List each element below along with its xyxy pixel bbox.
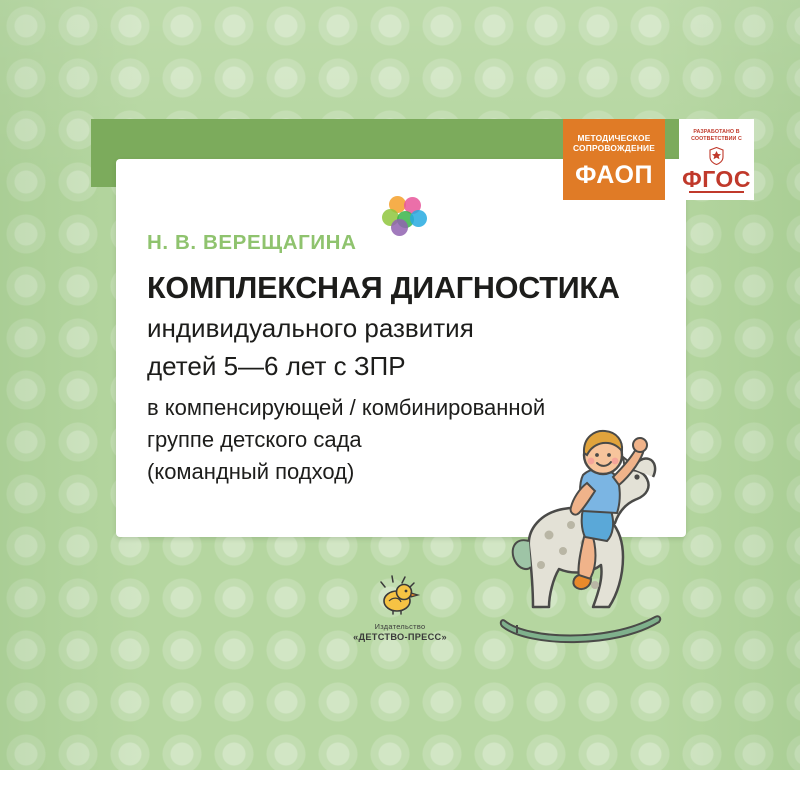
publisher-line-1: Издательство <box>344 622 456 631</box>
badge-fgos: РАЗРАБОТАНО В СООТВЕТСТВИИ С ФГОС <box>679 119 754 200</box>
badge-fgos-caption: РАЗРАБОТАНО В СООТВЕТСТВИИ С <box>679 129 754 143</box>
subtitle-line-3: в компенсирующей / комбинированной <box>147 395 545 421</box>
duck-icon <box>371 575 429 615</box>
badge-faop: МЕТОДИЧЕСКОЕ СОПРОВОЖДЕНИЕ ФАОП <box>563 119 665 200</box>
subtitle-line-1: индивидуального развития <box>147 313 474 344</box>
badge-fgos-label: ФГОС <box>679 166 754 193</box>
page-title: КОМПЛЕКСНАЯ ДИАГНОСТИКА <box>147 271 620 306</box>
flower-dots-icon <box>382 196 428 236</box>
boy-on-rocking-horse-illustration <box>487 425 682 655</box>
publisher-line-2: «ДЕТСТВО-ПРЕСС» <box>344 632 456 642</box>
subtitle-line-2: детей 5—6 лет с ЗПР <box>147 351 406 382</box>
subtitle-line-4: группе детского сада <box>147 427 362 453</box>
badge-fgos-rule <box>689 191 744 193</box>
badge-faop-label: ФАОП <box>563 161 665 190</box>
book-cover: Н. В. ВЕРЕЩАГИНА КОМПЛЕКСНАЯ ДИАГНОСТИКА… <box>0 0 800 800</box>
subtitle-line-5: (командный подход) <box>147 459 354 485</box>
cover-bottom-margin <box>0 770 800 800</box>
badge-faop-caption: МЕТОДИЧЕСКОЕ СОПРОВОЖДЕНИЕ <box>563 133 665 153</box>
emblem-icon <box>709 147 724 165</box>
author-name: Н. В. ВЕРЕЩАГИНА <box>147 231 356 255</box>
publisher-logo: Издательство «ДЕТСТВО-ПРЕСС» <box>344 575 456 642</box>
